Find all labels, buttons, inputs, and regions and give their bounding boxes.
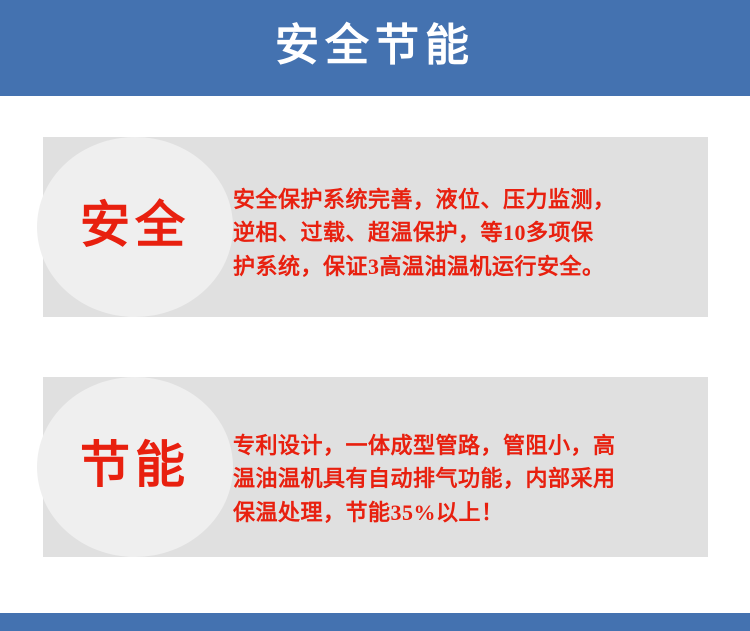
header-banner: 安全节能 [0,0,750,96]
badge-ellipse-safety: 安全 [37,137,233,317]
badge-label-safety: 安全 [80,200,190,254]
feature-text-line: 温油温机具有自动排气功能，内部采用 [233,462,685,495]
feature-text-safety: 安全保护系统完善，液位、压力监测， 逆相、过载、超温保护，等10多项保 护系统，… [233,183,685,283]
feature-text-line: 保温处理，节能35%以上！ [233,496,685,529]
footer-bar [0,613,750,631]
feature-block-energy-saving: 节能 专利设计，一体成型管路，管阻小，高 温油温机具有自动排气功能，内部采用 保… [43,377,708,557]
feature-text-energy-saving: 专利设计，一体成型管路，管阻小，高 温油温机具有自动排气功能，内部采用 保温处理… [233,429,685,529]
feature-text-line: 逆相、过载、超温保护，等10多项保 [233,216,685,249]
page-title: 安全节能 [275,24,475,72]
product-feature-page: 安全节能 安全 安全保护系统完善，液位、压力监测， 逆相、过载、超温保护，等10… [0,0,750,631]
feature-text-line: 安全保护系统完善，液位、压力监测， [233,183,685,216]
feature-text-line: 专利设计，一体成型管路，管阻小，高 [233,429,685,462]
feature-block-safety: 安全 安全保护系统完善，液位、压力监测， 逆相、过载、超温保护，等10多项保 护… [43,137,708,317]
badge-ellipse-energy-saving: 节能 [37,377,233,557]
feature-text-line: 护系统，保证3高温油温机运行安全。 [233,250,685,283]
badge-label-energy-saving: 节能 [80,440,190,494]
